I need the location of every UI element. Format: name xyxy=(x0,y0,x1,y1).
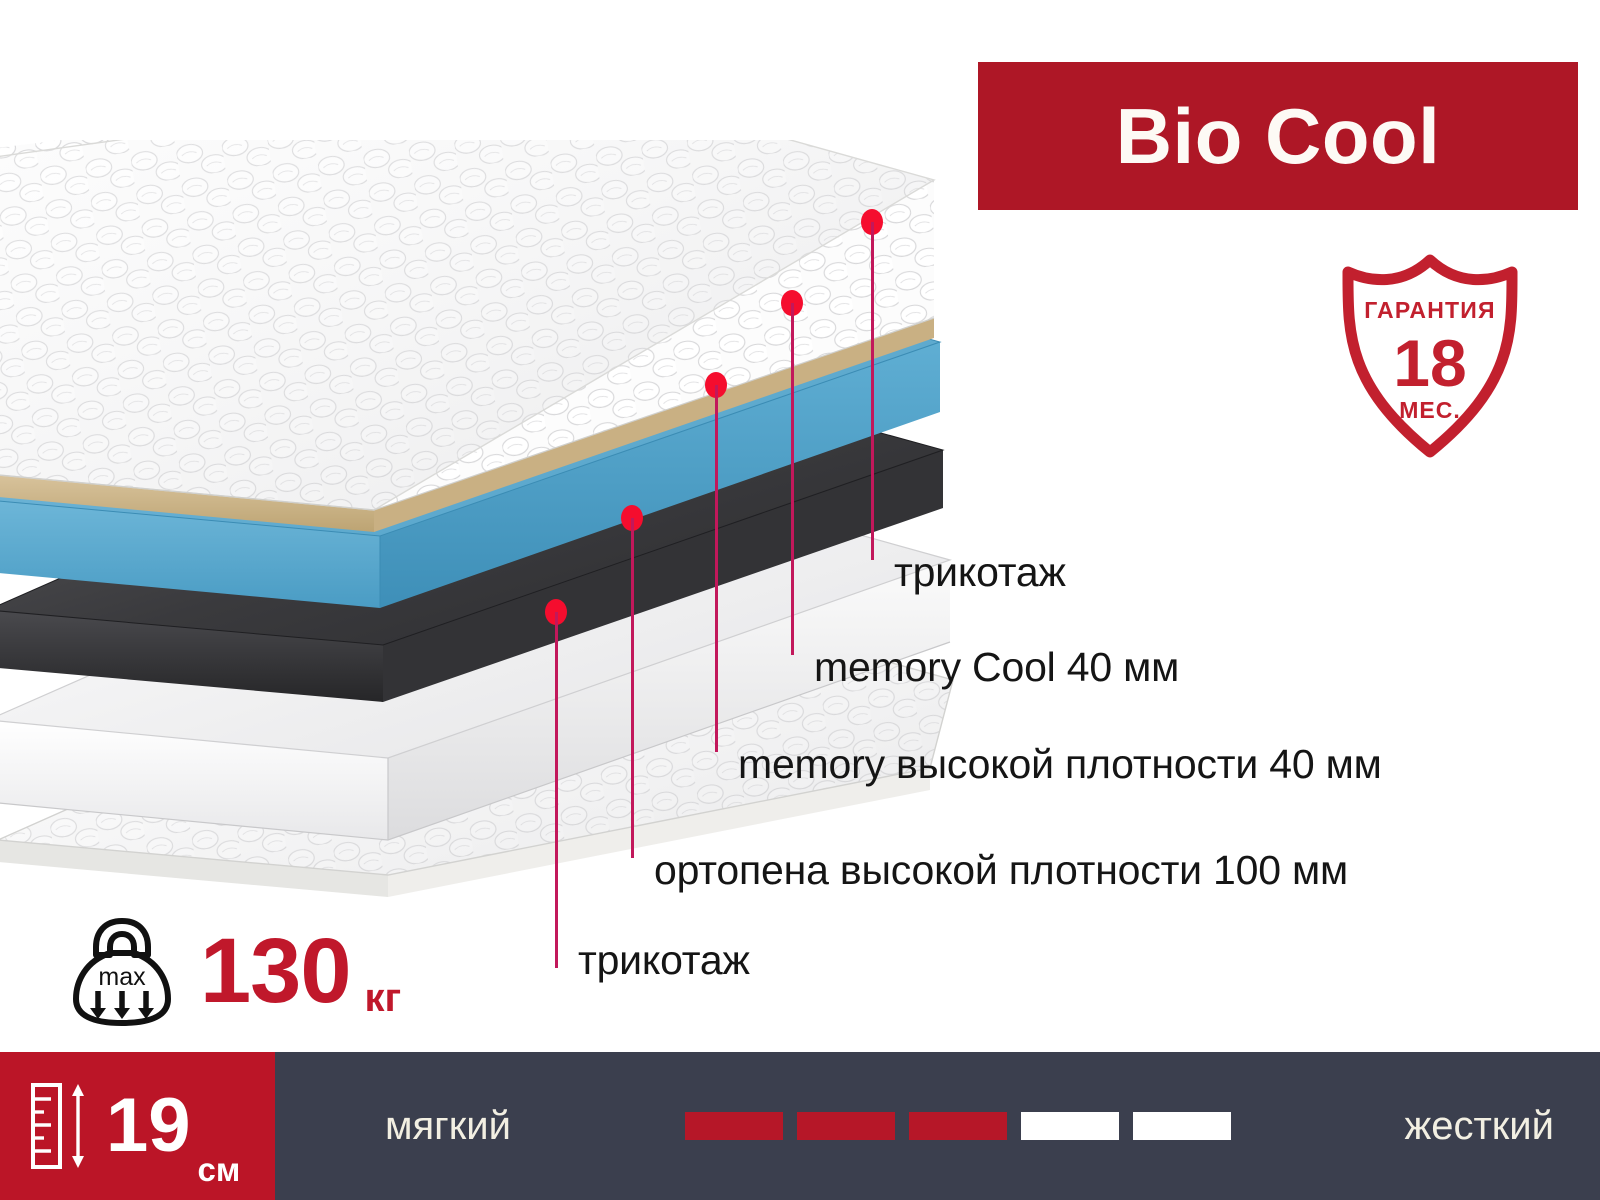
firmness-segment-5 xyxy=(1133,1112,1231,1140)
page-title: Bio Cool xyxy=(1116,97,1441,175)
warranty-badge: ГАРАНТИЯ 18 МЕС. xyxy=(1330,252,1530,462)
product-title-banner: Bio Cool xyxy=(978,62,1578,210)
ruler-icon xyxy=(30,1081,92,1171)
firmness-hard-label: жесткий xyxy=(1404,1106,1554,1146)
firmness-segment-3 xyxy=(909,1112,1007,1140)
layer-label-memory-cool: memory Cool 40 мм xyxy=(814,647,1179,688)
layer-label-ortopena: ортопена высокой плотности 100 мм xyxy=(654,850,1348,891)
firmness-block: мягкий жесткий xyxy=(275,1052,1600,1200)
layer-label-knit-bottom: трикотаж xyxy=(578,940,750,981)
callout-line-knit-top xyxy=(871,222,874,560)
warranty-unit: МЕС. xyxy=(1399,397,1461,423)
firmness-scale xyxy=(685,1112,1231,1140)
callout-line-ortopena xyxy=(631,518,634,858)
height-block: 19 см xyxy=(0,1052,275,1200)
firmness-segment-4 xyxy=(1021,1112,1119,1140)
layer-label-knit-top: трикотаж xyxy=(894,552,1066,593)
layer-label-memory-high-density: memory высокой плотности 40 мм xyxy=(738,744,1382,785)
infographic-canvas: Bio Cool ГАРАНТИЯ 18 МЕС. трикотаж memor… xyxy=(0,0,1600,1200)
bottom-bar: 19 см мягкий жесткий xyxy=(0,1052,1600,1200)
firmness-segment-1 xyxy=(685,1112,783,1140)
firmness-segment-2 xyxy=(797,1112,895,1140)
callout-line-knit-bottom xyxy=(555,612,558,968)
warranty-top-text: ГАРАНТИЯ xyxy=(1364,297,1495,323)
firmness-soft-label: мягкий xyxy=(385,1106,511,1146)
warranty-value: 18 xyxy=(1393,326,1466,400)
max-load-block: max 130 кг xyxy=(70,915,401,1027)
callout-line-memory-cool xyxy=(791,303,794,655)
callout-line-memory-high-density xyxy=(715,385,718,752)
max-load-value: 130 xyxy=(200,925,351,1017)
kettlebell-icon: max xyxy=(70,915,174,1027)
height-value: 19 xyxy=(106,1088,191,1164)
max-load-unit: кг xyxy=(365,978,402,1027)
height-unit: см xyxy=(198,1153,241,1200)
max-load-icon-text: max xyxy=(98,963,146,991)
